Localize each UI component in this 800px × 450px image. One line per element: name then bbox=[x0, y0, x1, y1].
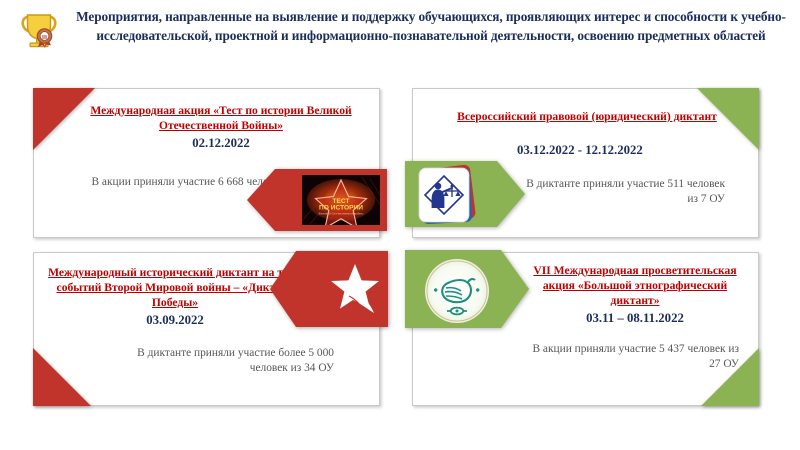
card-date: 03.09.2022 bbox=[44, 312, 306, 328]
event-card-test-po-istorii[interactable]: Международная акция «Тест по истории Вел… bbox=[33, 88, 380, 238]
corner-accent-red-bottom-left bbox=[33, 348, 91, 406]
etnograficheskiy-diktant-dove-logo bbox=[421, 255, 493, 332]
trophy-icon bbox=[16, 8, 62, 54]
test-po-istorii-star-logo: ТЕСТ ПО ИСТОРИИ Великой Отечественной во… bbox=[302, 175, 380, 230]
svg-text:ПО ИСТОРИИ: ПО ИСТОРИИ bbox=[319, 205, 363, 212]
page-title: Мероприятия, направленные на выявление и… bbox=[72, 7, 790, 45]
card-title: VII Международная просветительская акция… bbox=[519, 263, 751, 308]
svg-text:Великой Отечественной войны: Великой Отечественной войны bbox=[319, 212, 364, 216]
card-statistic: В диктанте приняли участие 511 человек и… bbox=[517, 177, 725, 207]
page-header: Мероприятия, направленные на выявление и… bbox=[0, 0, 800, 72]
card-title: Всероссийский правовой (юридический) дик… bbox=[427, 109, 747, 124]
card-date: 02.12.2022 bbox=[86, 135, 356, 151]
event-card-diktant-pobedy[interactable]: Международный исторический диктант на те… bbox=[33, 252, 380, 406]
event-card-etnograficheskiy-diktant[interactable]: VII Международная просветительская акция… bbox=[412, 252, 759, 406]
card-title: Международная акция «Тест по истории Вел… bbox=[86, 103, 356, 133]
lady-justice-scales-logo bbox=[411, 163, 489, 232]
card-statistic: В акции приняли участие 5 437 человек из… bbox=[527, 342, 739, 372]
card-title: Международный исторический диктант на те… bbox=[44, 265, 306, 310]
diktant-pobedy-star-quill-logo bbox=[324, 255, 386, 330]
card-date: 03.12.2022 - 12.12.2022 bbox=[517, 142, 697, 158]
event-card-pravovoy-diktant[interactable]: Всероссийский правовой (юридический) дик… bbox=[412, 88, 759, 238]
card-statistic: В диктанте приняли участие более 5 000 ч… bbox=[106, 346, 334, 376]
card-date: 03.11 – 08.11.2022 bbox=[519, 310, 751, 326]
